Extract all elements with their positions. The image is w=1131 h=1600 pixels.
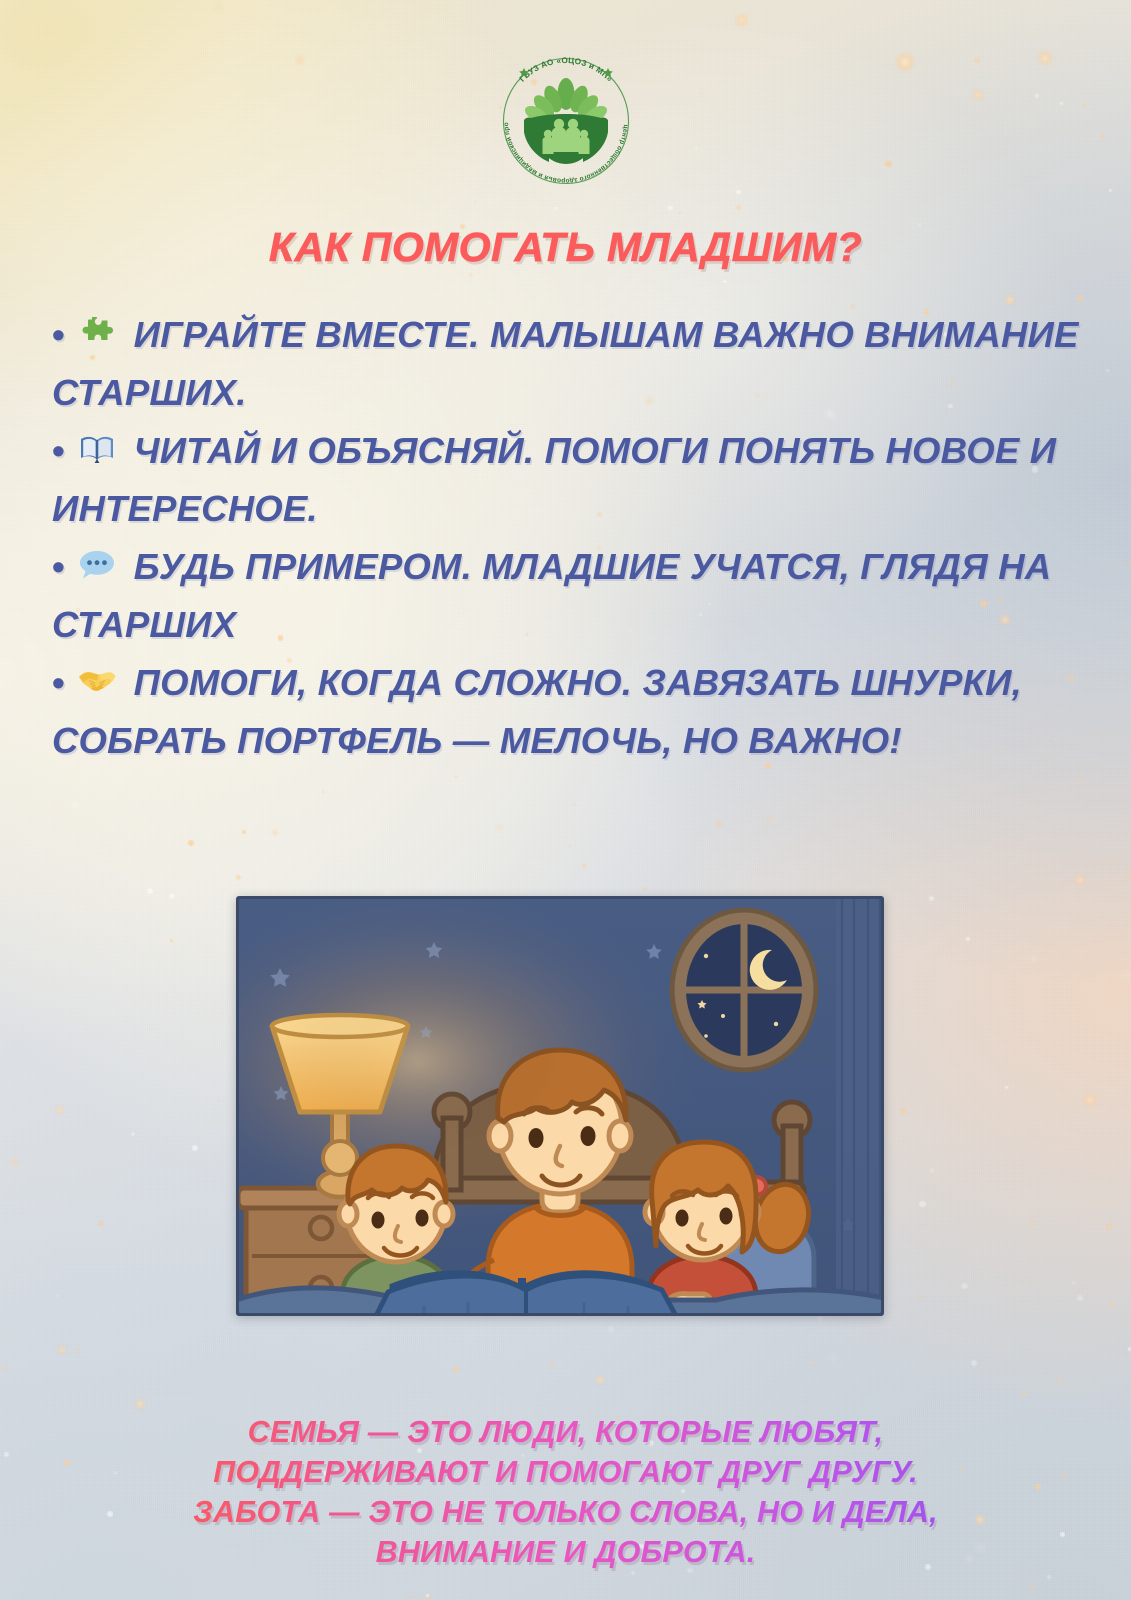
bullet-marker: •: [52, 662, 65, 703]
closing-line: ПОДДЕРЖИВАЮТ И ПОМОГАЮТ ДРУГ ДРУГУ.: [0, 1452, 1131, 1492]
bedtime-reading-illustration: [236, 896, 884, 1316]
closing-message: СЕМЬЯ — ЭТО ЛЮДИ, КОТОРЫЕ ЛЮБЯТ, ПОДДЕРЖ…: [0, 1412, 1131, 1572]
list-item: • ИГРАЙТЕ ВМЕСТЕ. МАЛЫШАМ ВАЖНО ВНИМАНИЕ…: [52, 306, 1083, 422]
handshake-icon: [77, 659, 117, 699]
poster-canvas: ГБУЗ АО «ОЦОЗ и МП» Областной центр обще…: [0, 0, 1131, 1600]
list-item-text: ИГРАЙТЕ ВМЕСТЕ. МАЛЫШАМ ВАЖНО ВНИМАНИЕ С…: [52, 314, 1079, 413]
bullet-marker: •: [52, 546, 65, 587]
open-book-icon: [77, 427, 117, 467]
list-item-text: ЧИТАЙ И ОБЪЯСНЯЙ. ПОМОГИ ПОНЯТЬ НОВОЕ И …: [52, 430, 1056, 529]
closing-line: СЕМЬЯ — ЭТО ЛЮДИ, КОТОРЫЕ ЛЮБЯТ,: [0, 1412, 1131, 1452]
list-item-text: БУДЬ ПРИМЕРОМ. МЛАДШИЕ УЧАТСЯ, ГЛЯДЯ НА …: [52, 546, 1051, 645]
bullet-marker: •: [52, 430, 65, 471]
bullet-marker: •: [52, 314, 65, 355]
tips-list: • ИГРАЙТЕ ВМЕСТЕ. МАЛЫШАМ ВАЖНО ВНИМАНИЕ…: [52, 306, 1083, 770]
puzzle-piece-icon: [77, 311, 117, 351]
page-title: КАК ПОМОГАТЬ МЛАДШИМ?: [0, 224, 1131, 271]
list-item: • БУДЬ ПРИМЕРОМ. МЛАДШИЕ УЧАТСЯ, ГЛЯДЯ Н…: [52, 538, 1083, 654]
list-item: • ЧИТАЙ И ОБЪЯСНЯЙ. ПОМОГИ ПОНЯТЬ НОВОЕ …: [52, 422, 1083, 538]
list-item-text: ПОМОГИ, КОГДА СЛОЖНО. ЗАВЯЗАТЬ ШНУРКИ, С…: [52, 662, 1022, 761]
speech-balloon-icon: [77, 543, 117, 583]
closing-line: ВНИМАНИЕ И ДОБРОТА.: [0, 1532, 1131, 1572]
logo-emblem: ГБУЗ АО «ОЦОЗ и МП» Областной центр обще…: [491, 46, 641, 196]
closing-line: ЗАБОТА — ЭТО НЕ ТОЛЬКО СЛОВА, НО И ДЕЛА,: [0, 1492, 1131, 1532]
organization-logo: ГБУЗ АО «ОЦОЗ и МП» Областной центр обще…: [0, 46, 1131, 196]
list-item: • ПОМОГИ, КОГДА СЛОЖНО. ЗАВЯЗАТЬ ШНУРКИ,…: [52, 654, 1083, 770]
